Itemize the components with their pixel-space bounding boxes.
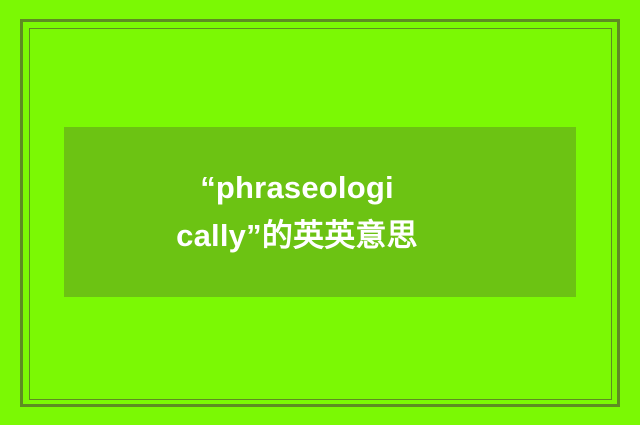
title-content-panel: “phraseologi cally”的英英意思	[64, 127, 576, 297]
title-line-2: cally”的英英意思	[64, 212, 530, 260]
title-card-canvas: “phraseologi cally”的英英意思	[0, 0, 640, 425]
title-line-1: “phraseologi	[64, 164, 530, 212]
page-title: “phraseologi cally”的英英意思	[64, 164, 576, 260]
